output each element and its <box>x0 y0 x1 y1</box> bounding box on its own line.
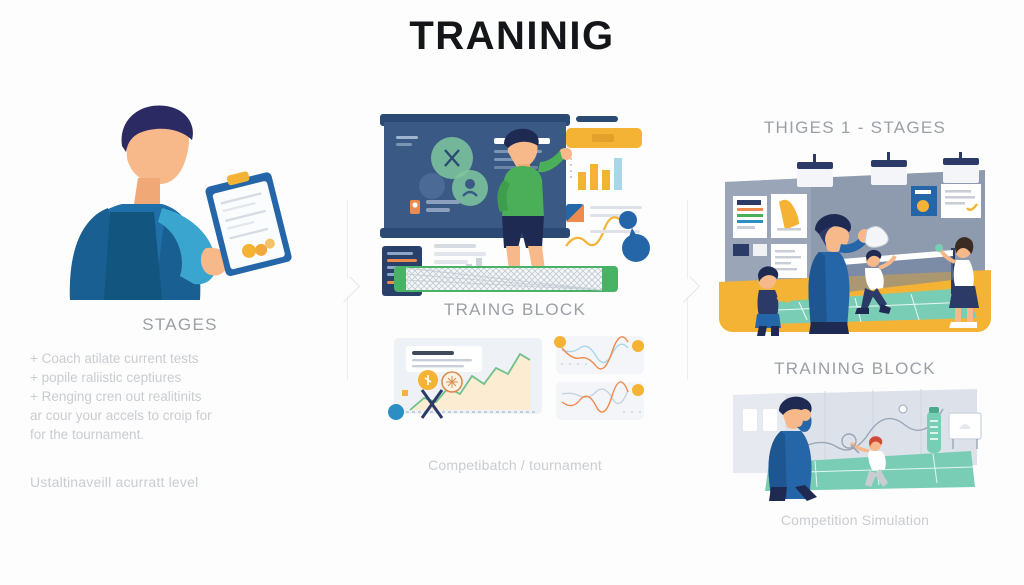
stages-bullet-list: + Coach atilate current tests + popile r… <box>30 349 330 444</box>
analyst-at-dashboard-illustration <box>370 100 660 300</box>
bullet-item: + Renging cren out realitinits <box>30 387 330 406</box>
traing-block-caption: Competibatch / tournament <box>370 457 660 473</box>
chevron-right-icon <box>334 276 360 302</box>
column-training-block: THIGES 1 - STAGES <box>710 118 1000 548</box>
bullet-item: + popile raliistic ceptiures <box>30 368 330 387</box>
training-block-caption: Competition Simulation <box>710 512 1000 528</box>
page-title: TRANINIG <box>0 14 1024 59</box>
slide-canvas: TRANINIG <box>0 0 1024 585</box>
divider-1 <box>336 200 360 380</box>
column-heading-training-block: TRAINING BLOCK <box>710 359 1000 379</box>
indoor-badminton-court-illustration <box>715 152 995 337</box>
column-traing-block: TRAING BLOCK <box>370 100 660 530</box>
chevron-right-icon <box>674 276 700 302</box>
bullet-item: for the tournament. <box>30 425 330 444</box>
column-heading-stages: STAGES <box>30 315 330 335</box>
column-heading-thiges: THIGES 1 - STAGES <box>710 118 1000 138</box>
coach-watching-match-illustration <box>725 387 985 502</box>
performance-charts-illustration <box>380 332 650 427</box>
bullet-item: ar cour your accels to croip for <box>30 406 330 425</box>
stages-caption: Ustaltinaveill acurratt level <box>30 474 330 490</box>
column-heading-traing-block: TRAING BLOCK <box>370 300 660 320</box>
coach-with-clipboard-illustration <box>30 100 330 315</box>
divider-2 <box>676 200 700 380</box>
bullet-item: + Coach atilate current tests <box>30 349 330 368</box>
column-stages: STAGES + Coach atilate current tests + p… <box>30 100 330 530</box>
